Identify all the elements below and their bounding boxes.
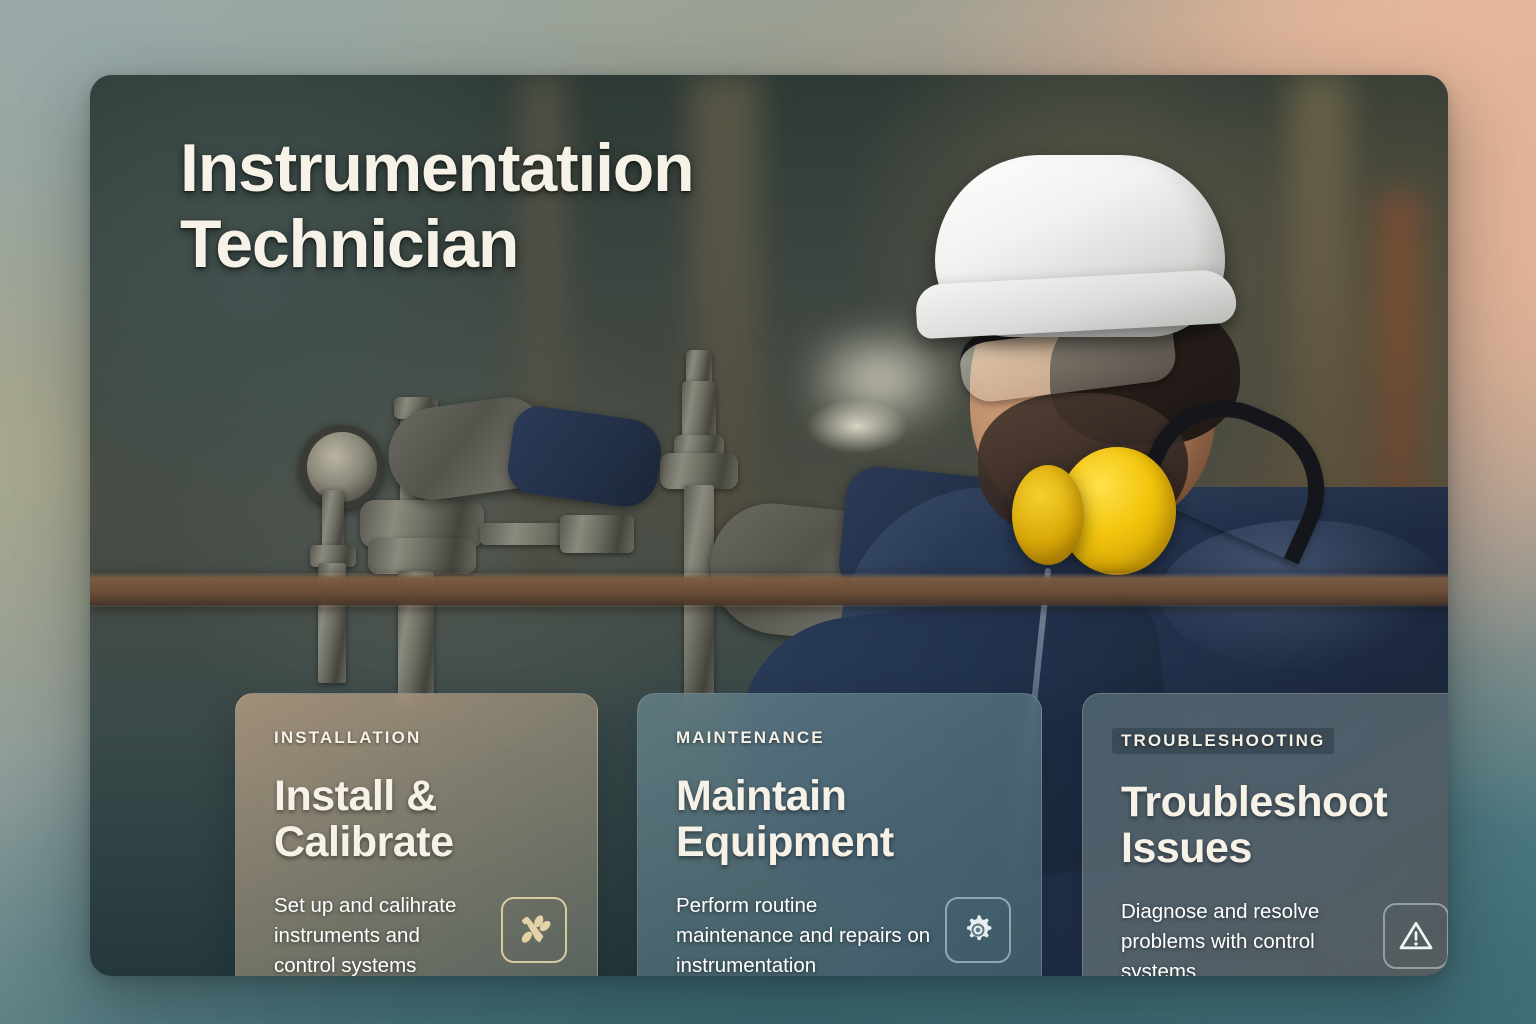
column-valve-body — [660, 453, 738, 489]
page-title-line1: Instrumentatıion — [180, 130, 693, 206]
card-title-line1: Maintain — [676, 772, 846, 820]
feature-card-installation[interactable]: INSTALLATION Install & Calibrate Set up … — [235, 693, 598, 976]
valve-flange — [368, 538, 476, 574]
warning-triangle-icon — [1383, 903, 1448, 969]
card-title: Troubleshoot Issues — [1121, 780, 1448, 871]
feature-card-troubleshooting[interactable]: TROUBLESHOOTING Troubleshoot Issues Diag… — [1082, 693, 1448, 976]
card-title: Maintain Equipment — [676, 774, 1011, 865]
card-title: Install & Calibrate — [274, 774, 567, 865]
card-description: Diagnose and resolve problems with contr… — [1121, 897, 1369, 976]
workbench-rail — [90, 573, 1448, 607]
card-body: Perform routine maintenance and repairs … — [676, 891, 1011, 976]
card-title-line2: Equipment — [676, 818, 894, 866]
card-eyebrow: MAINTENANCE — [676, 728, 825, 748]
card-title-line2: Calibrate — [274, 818, 454, 866]
card-title-line2: Issues — [1121, 824, 1252, 872]
hero-panel: INSTALLATION Install & Calibrate Set up … — [90, 75, 1448, 976]
valve-coupling — [560, 515, 634, 553]
card-eyebrow: TROUBLESHOOTING — [1112, 728, 1334, 754]
card-eyebrow: INSTALLATION — [274, 728, 421, 748]
card-description: Set up and calihrate instruments and con… — [274, 891, 487, 976]
card-description: Perform routine maintenance and repairs … — [676, 891, 931, 976]
card-title-line1: Troubleshoot — [1121, 778, 1387, 826]
page-title-line2: Technician — [180, 206, 518, 282]
ear-defender-cup — [1012, 465, 1084, 565]
card-title-line1: Install & — [274, 772, 437, 820]
page-title: Instrumentatıion Technician — [180, 130, 940, 282]
gear-icon — [945, 897, 1011, 963]
wrench-tools-icon — [501, 897, 567, 963]
card-body: Diagnose and resolve problems with contr… — [1121, 897, 1448, 976]
feature-card-maintenance[interactable]: MAINTENANCE Maintain Equipment Perform r… — [637, 693, 1042, 976]
card-body: Set up and calihrate instruments and con… — [274, 891, 567, 976]
